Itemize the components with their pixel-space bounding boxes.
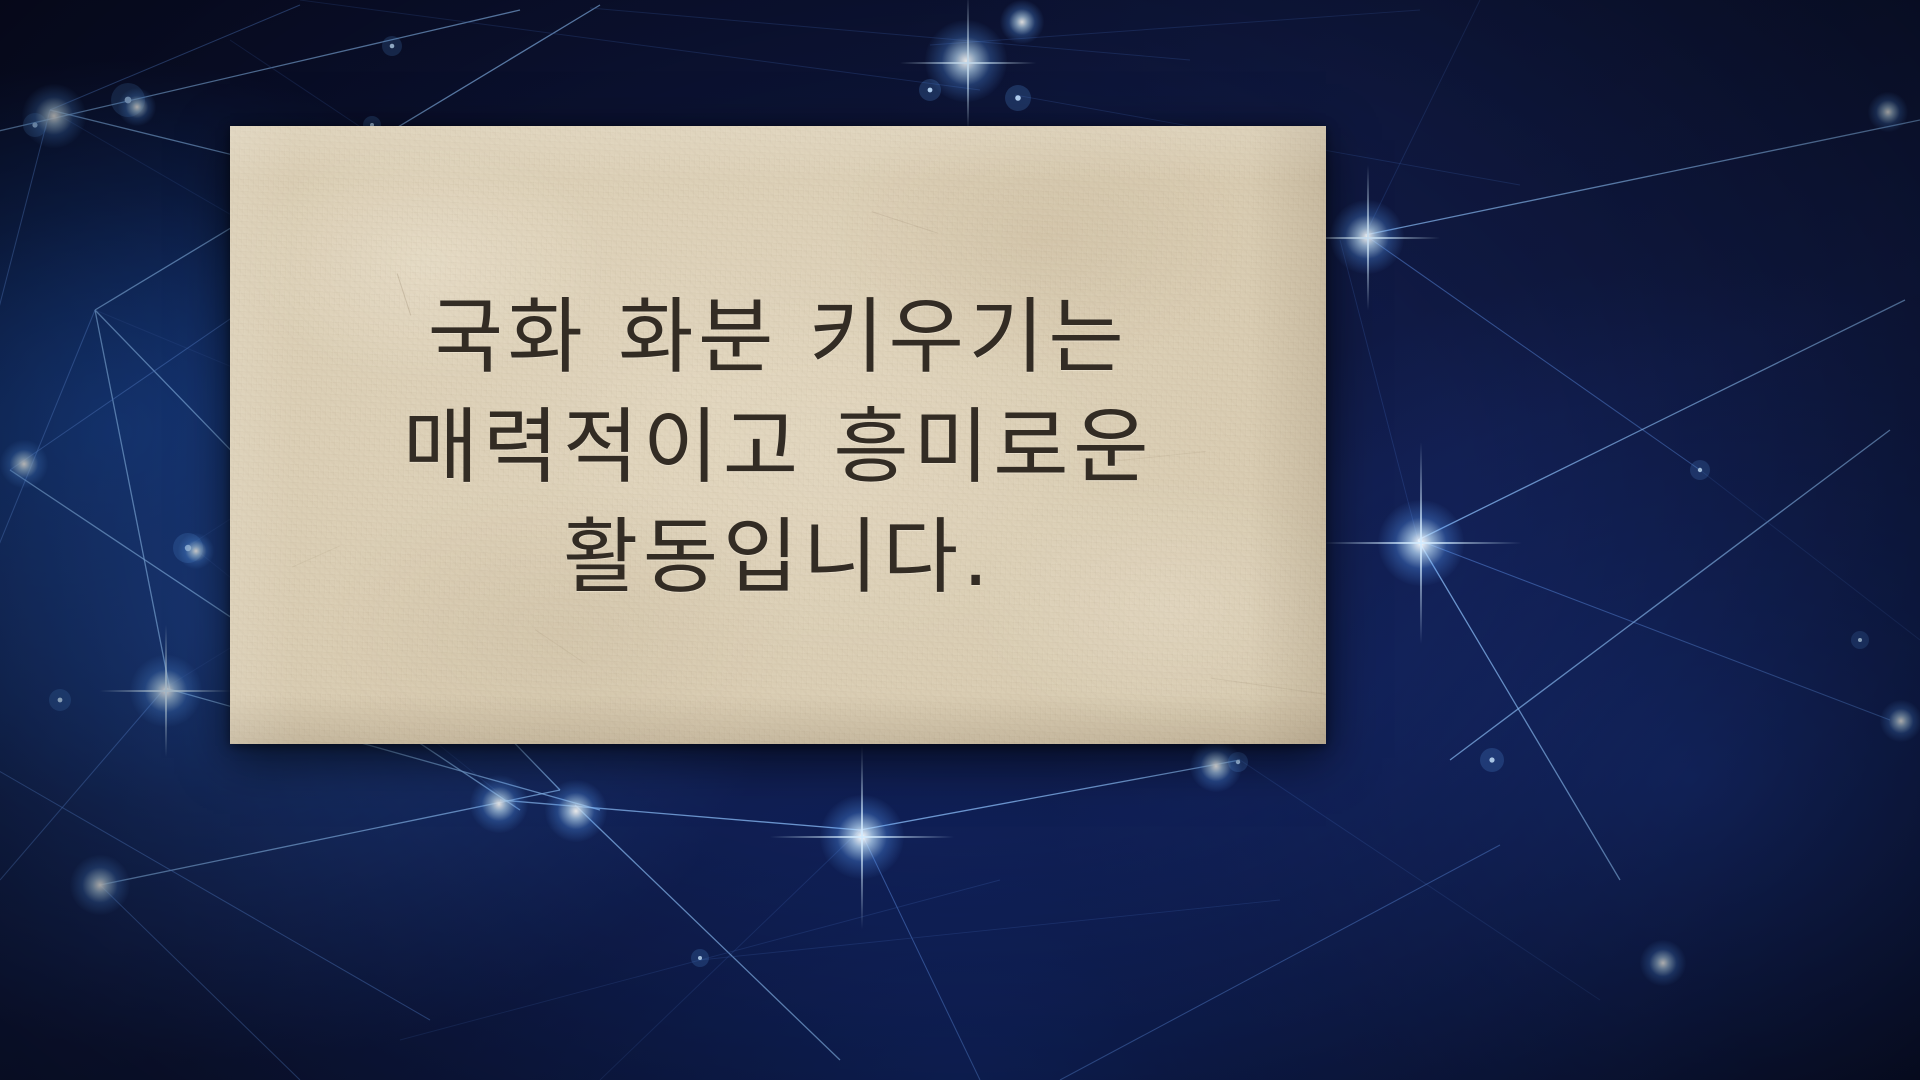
caption-line-2: 매력적이고 흥미로운	[403, 393, 1153, 503]
slide-stage: 국화 화분 키우기는 매력적이고 흥미로운 활동입니다.	[0, 0, 1920, 1080]
caption-line-1: 국화 화분 키우기는	[428, 283, 1129, 393]
card-text-block: 국화 화분 키우기는 매력적이고 흥미로운 활동입니다.	[230, 126, 1326, 744]
caption-line-3: 활동입니다.	[563, 503, 993, 613]
paper-card: 국화 화분 키우기는 매력적이고 흥미로운 활동입니다.	[230, 126, 1326, 744]
